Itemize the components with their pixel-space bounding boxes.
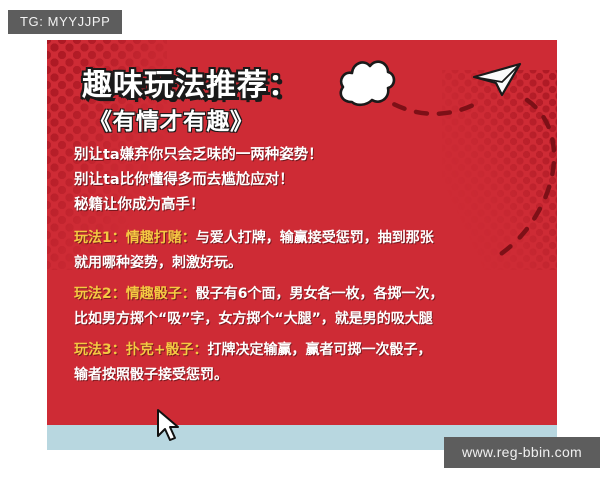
rule-body-a: 打牌决定输赢，赢者可掷一次骰子， bbox=[207, 342, 431, 358]
promo-poster: 趣味玩法推荐： 《有情才有趣》 别让ta嫌弃你只会乏味的一两种姿势！ 别让ta比… bbox=[47, 40, 557, 425]
rule-body-a: 骰子有6个面，男女各一枚，各掷一次， bbox=[196, 286, 444, 302]
poster-title: 趣味玩法推荐： bbox=[82, 60, 299, 104]
rule-first-line: 玩法2：情趣骰子：骰子有6个面，男女各一枚，各掷一次， bbox=[74, 282, 552, 307]
rule-item: 玩法2：情趣骰子：骰子有6个面，男女各一枚，各掷一次， 比如男方掷个“吸”字，女… bbox=[74, 282, 552, 332]
intro-line: 秘籍让你成为高手！ bbox=[74, 193, 544, 218]
rule-first-line: 玩法1：情趣打赌：与爱人打牌，输赢接受惩罚，抽到那张 bbox=[74, 226, 552, 251]
intro-line: 别让ta嫌弃你只会乏味的一两种姿势！ bbox=[74, 143, 544, 168]
rule-second-line: 就用哪种姿势，刺激好玩。 bbox=[74, 251, 552, 276]
rule-second-line: 比如男方掷个“吸”字，女方掷个“大腿”，就是男的吸大腿 bbox=[74, 307, 552, 332]
rules-list: 玩法1：情趣打赌：与爱人打牌，输赢接受惩罚，抽到那张 就用哪种姿势，刺激好玩。 … bbox=[74, 226, 552, 394]
rule-body-a: 与爱人打牌，输赢接受惩罚，抽到那张 bbox=[196, 230, 434, 246]
rule-item: 玩法3：扑克+骰子：打牌决定输赢，赢者可掷一次骰子， 输者按照骰子接受惩罚。 bbox=[74, 338, 552, 388]
poster-subtitle: 《有情才有趣》 bbox=[89, 102, 254, 136]
rule-item: 玩法1：情趣打赌：与爱人打牌，输赢接受惩罚，抽到那张 就用哪种姿势，刺激好玩。 bbox=[74, 226, 552, 276]
tg-handle-badge: TG: MYYJJPP bbox=[8, 10, 122, 34]
rule-second-line: 输者按照骰子接受惩罚。 bbox=[74, 363, 552, 388]
rule-heading: 玩法1：情趣打赌： bbox=[74, 230, 196, 246]
rule-first-line: 玩法3：扑克+骰子：打牌决定输赢，赢者可掷一次骰子， bbox=[74, 338, 552, 363]
intro-paragraph: 别让ta嫌弃你只会乏味的一两种姿势！ 别让ta比你懂得多而去尴尬应对！ 秘籍让你… bbox=[74, 143, 544, 218]
intro-line: 别让ta比你懂得多而去尴尬应对！ bbox=[74, 168, 544, 193]
site-watermark: www.reg-bbin.com bbox=[444, 437, 600, 468]
rule-heading: 玩法2：情趣骰子： bbox=[74, 286, 196, 302]
rule-heading: 玩法3：扑克+骰子： bbox=[74, 342, 207, 358]
